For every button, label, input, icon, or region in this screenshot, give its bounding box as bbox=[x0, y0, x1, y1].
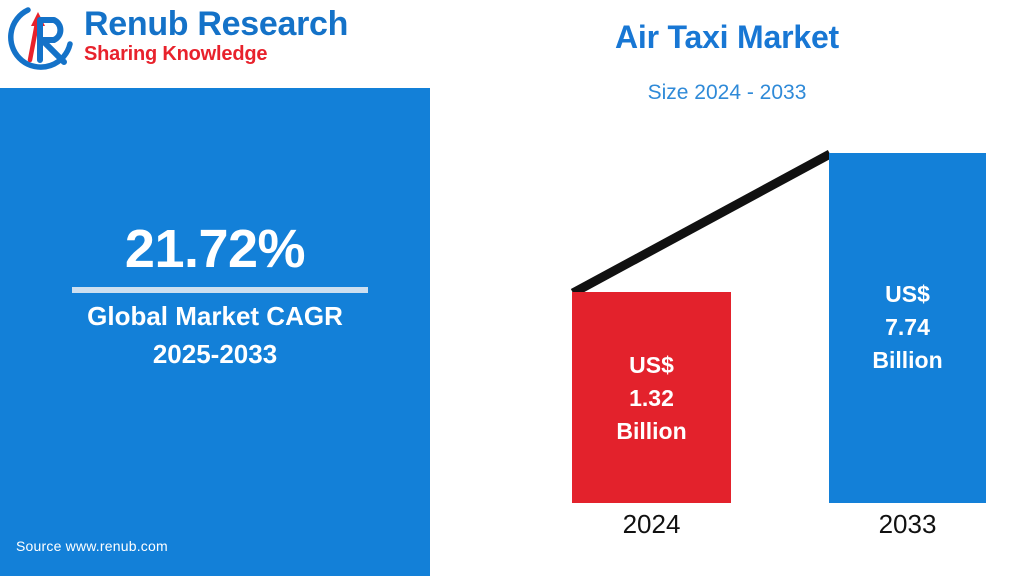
chart-area: Air Taxi Market Size 2024 - 2033 US$ 1.3… bbox=[430, 0, 1024, 576]
bar-2024-value-line-2: 1.32 bbox=[572, 382, 731, 415]
bar-2033[interactable]: US$ 7.74 Billion bbox=[829, 153, 986, 503]
bar-2024-value-line-3: Billion bbox=[572, 415, 731, 448]
cagr-stat-panel: 21.72% Global Market CAGR 2025-2033 Sour… bbox=[0, 88, 430, 576]
cagr-caption: Global Market CAGR 2025-2033 bbox=[0, 297, 430, 373]
brand-name: Renub Research bbox=[84, 6, 414, 42]
bar-2024-value-line-1: US$ bbox=[572, 349, 731, 382]
bar-2033-value-line-3: Billion bbox=[829, 344, 986, 377]
brand-tagline: Sharing Knowledge bbox=[84, 43, 414, 65]
bar-2033-value-line-1: US$ bbox=[829, 278, 986, 311]
bar-chart-plot: US$ 1.32 Billion US$ 7.74 Billion 2024 2… bbox=[430, 0, 1024, 576]
cagr-caption-line-1: Global Market CAGR bbox=[87, 301, 343, 331]
bar-2033-value-line-2: 7.74 bbox=[829, 311, 986, 344]
source-note: Source www.renub.com bbox=[16, 538, 168, 554]
renub-r-swoosh-logo-icon bbox=[8, 2, 82, 72]
cagr-caption-line-2: 2025-2033 bbox=[0, 335, 430, 373]
infographic-canvas: Renub Research Sharing Knowledge 21.72% … bbox=[0, 0, 1024, 576]
stat-divider bbox=[72, 287, 368, 293]
axis-label-2024: 2024 bbox=[572, 508, 731, 540]
brand-wordmark: Renub Research Sharing Knowledge bbox=[84, 6, 414, 70]
brand-header: Renub Research Sharing Knowledge bbox=[0, 0, 440, 88]
bar-2024[interactable]: US$ 1.32 Billion bbox=[572, 292, 731, 503]
axis-label-2033: 2033 bbox=[829, 508, 986, 540]
cagr-value: 21.72% bbox=[0, 219, 430, 279]
